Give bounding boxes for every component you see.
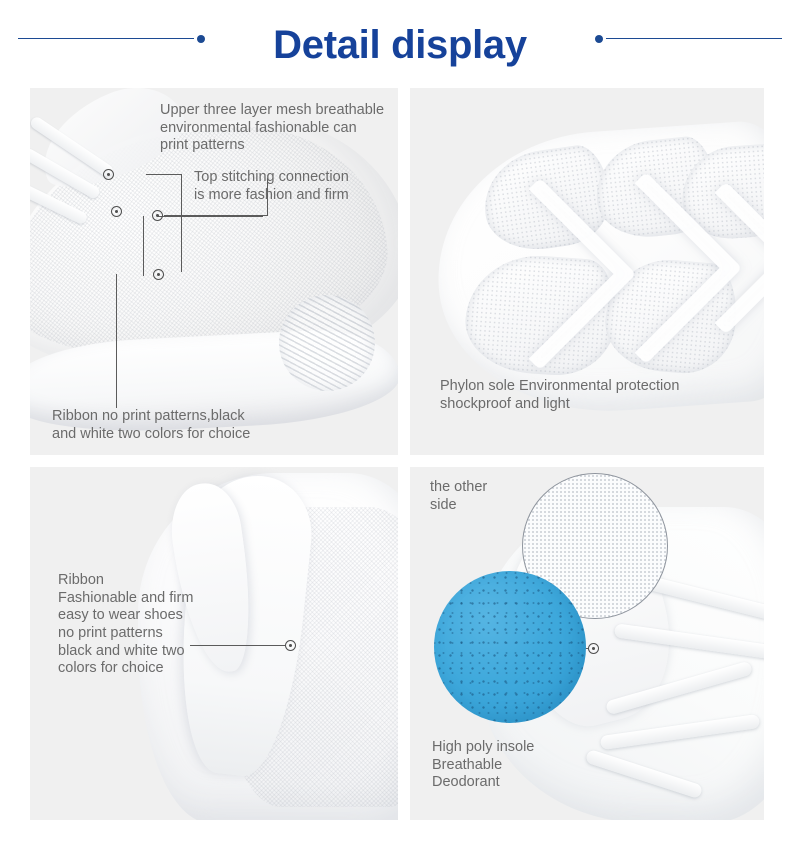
insole-swatch: [434, 571, 586, 723]
panel-upper-mesh[interactable]: Upper three layer mesh breathable enviro…: [30, 88, 398, 455]
leader-line: [146, 174, 182, 175]
header-decoration-right: [592, 34, 782, 43]
page-title: Detail display: [273, 25, 527, 65]
decoration-line-right: [606, 38, 782, 40]
stitching-zoom-inset: [279, 295, 375, 391]
leader-line: [164, 215, 268, 216]
top-stitching-callout: Top stitching connection is more fashion…: [194, 169, 398, 204]
detail-marker[interactable]: [285, 640, 296, 651]
ribbon-detail-callout: Ribbon Fashionable and firm easy to wear…: [58, 572, 243, 678]
phylon-sole-callout: Phylon sole Environmental protection sho…: [440, 378, 760, 413]
decoration-dot-left: [197, 35, 205, 43]
leader-line: [116, 274, 117, 408]
detail-marker[interactable]: [152, 210, 163, 221]
other-side-callout: the other side: [430, 479, 550, 514]
detail-marker[interactable]: [153, 269, 164, 280]
insole-callout: High poly insole Breathable Deodorant: [432, 739, 652, 792]
leader-line: [181, 174, 182, 272]
panel-ribbon-heel[interactable]: Ribbon Fashionable and firm easy to wear…: [30, 467, 398, 820]
upper-mesh-callout: Upper three layer mesh breathable enviro…: [160, 102, 398, 155]
panel-insole[interactable]: the other side High poly insole Breathab…: [410, 467, 764, 820]
detail-panel-grid: Upper three layer mesh breathable enviro…: [30, 88, 764, 820]
decoration-dot-right: [595, 35, 603, 43]
header-decoration-left: [18, 34, 208, 43]
leader-line: [143, 216, 144, 276]
detail-marker[interactable]: [588, 643, 599, 654]
detail-marker[interactable]: [103, 169, 114, 180]
detail-marker[interactable]: [111, 206, 122, 217]
panel-phylon-sole[interactable]: Phylon sole Environmental protection sho…: [410, 88, 764, 455]
ribbon-callout: Ribbon no print patterns,black and white…: [52, 408, 322, 443]
page-header: Detail display: [0, 0, 800, 88]
leader-line: [158, 216, 263, 217]
decoration-line-left: [18, 38, 194, 40]
